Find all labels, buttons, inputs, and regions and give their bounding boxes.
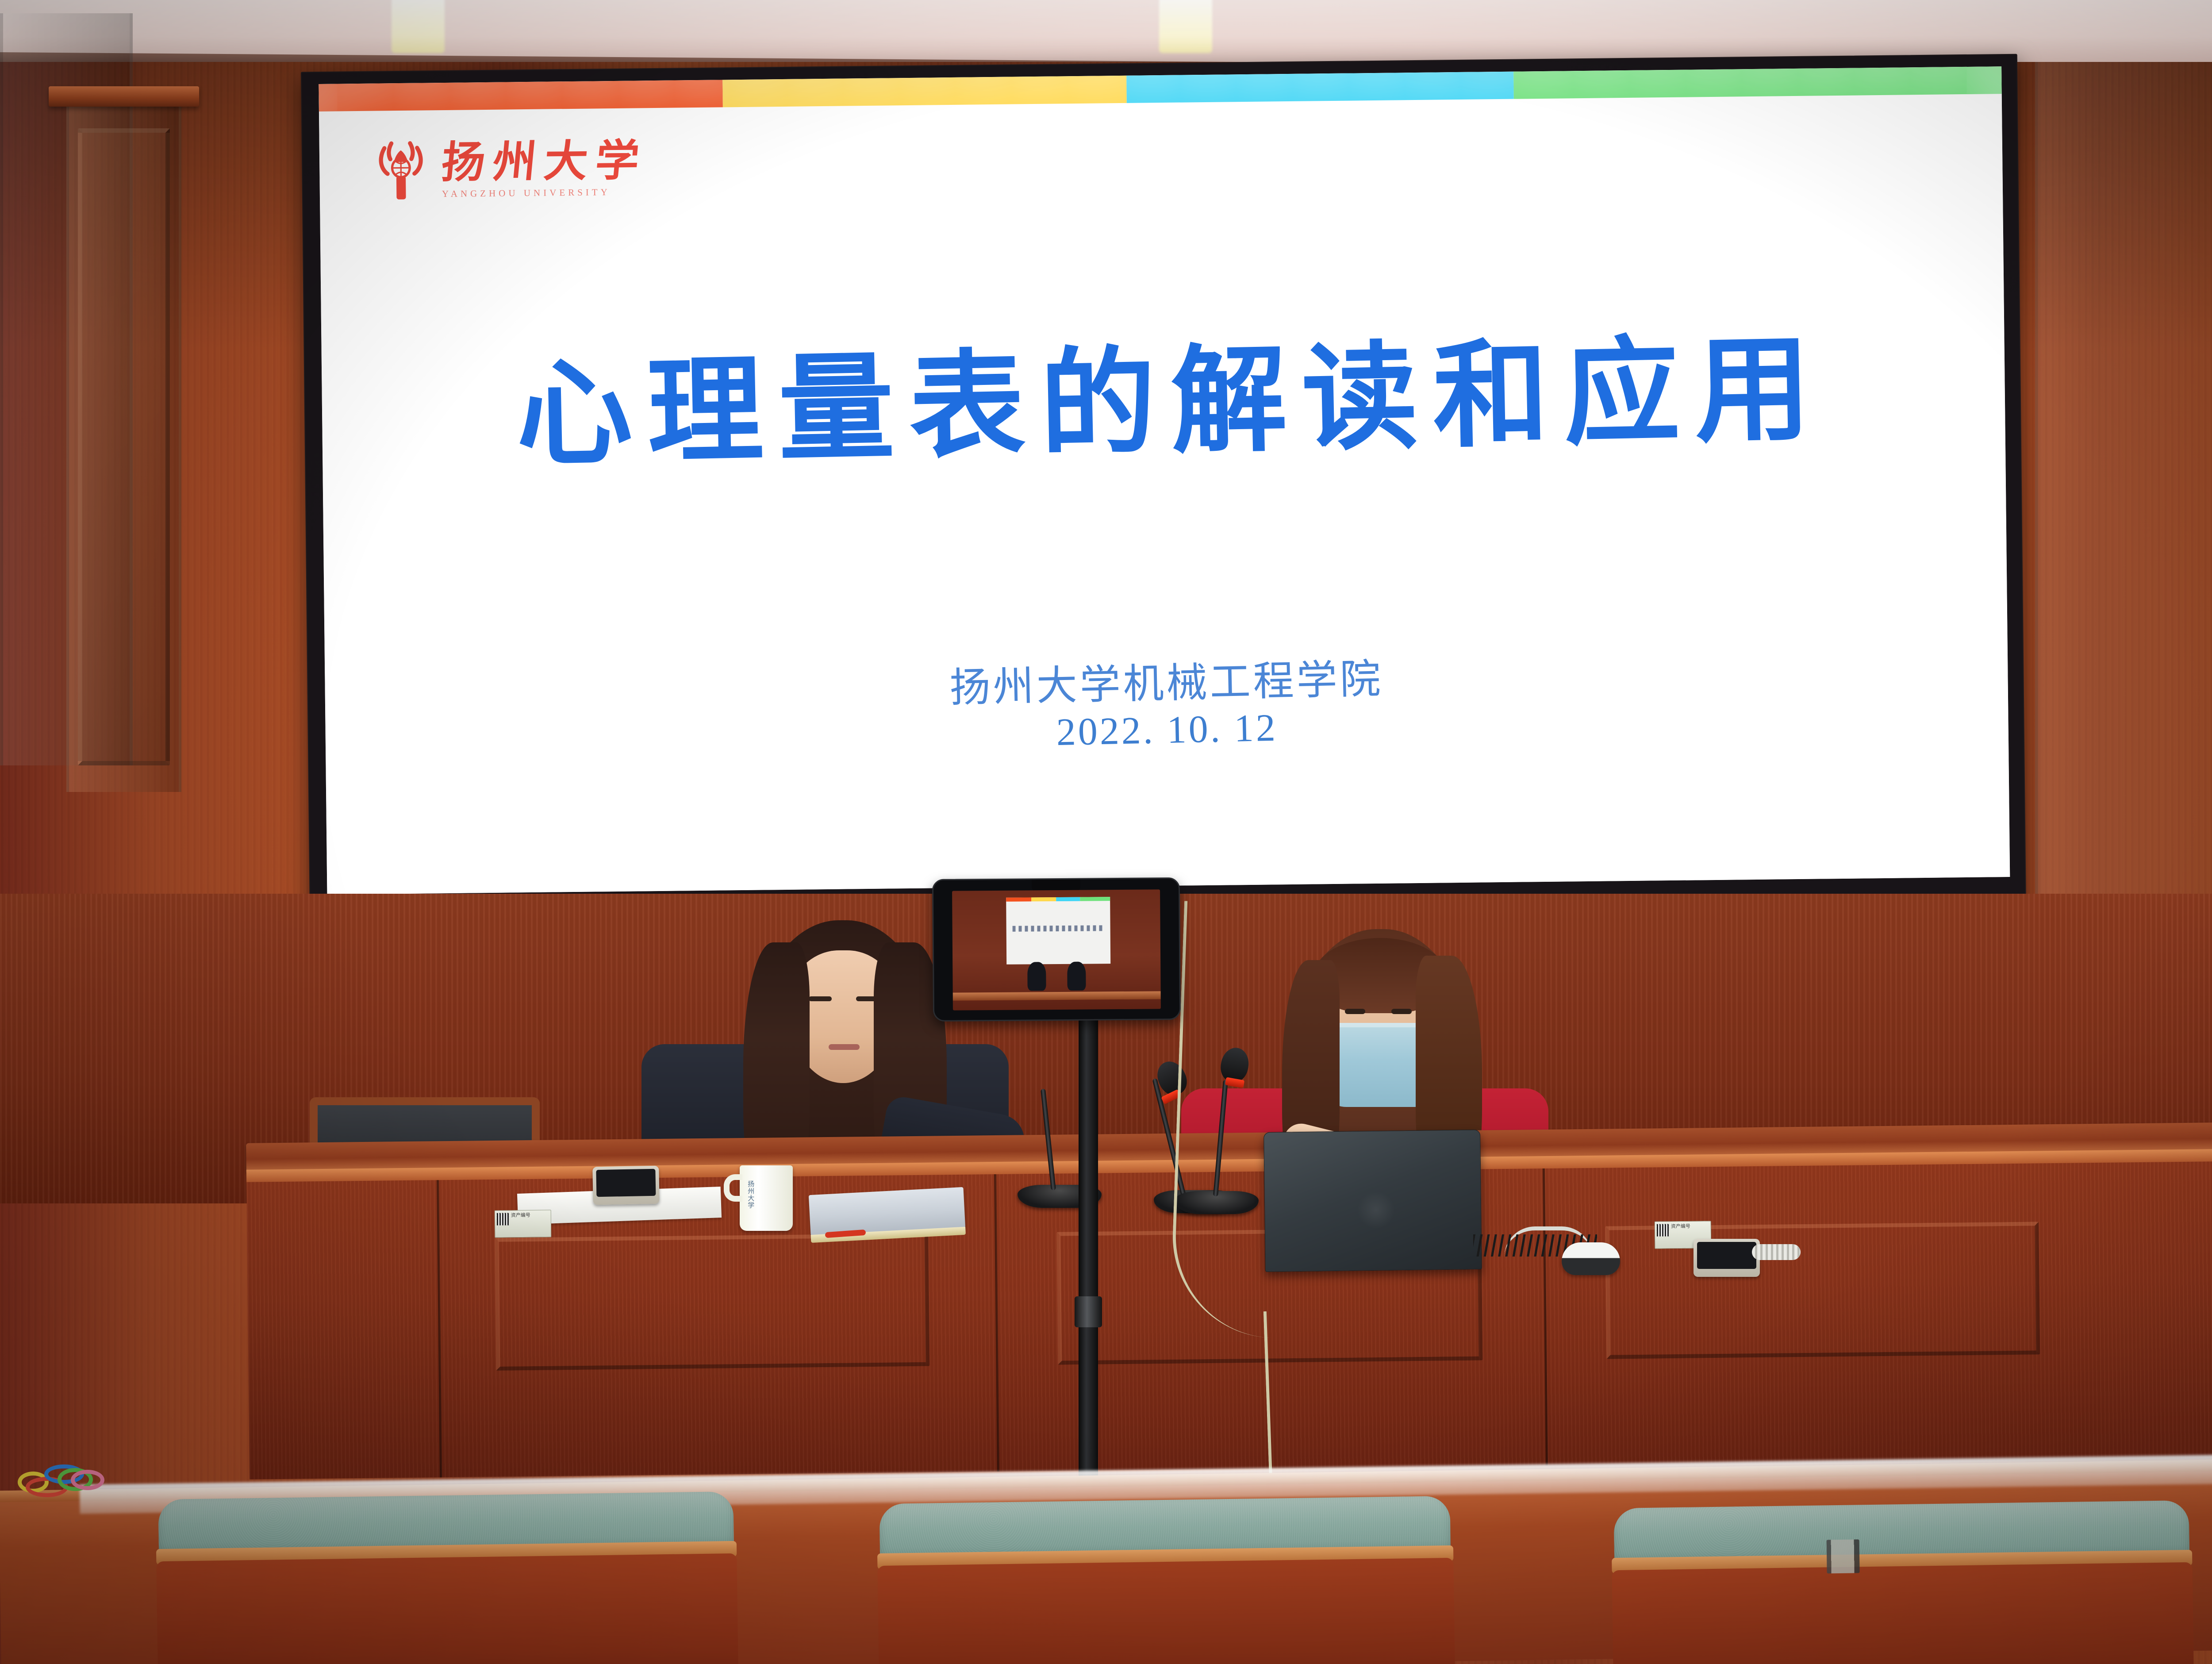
paper-stack[interactable]: [809, 1187, 965, 1236]
phone-live-preview[interactable]: [952, 889, 1161, 1010]
preview-band-green: [1080, 897, 1110, 901]
power-cable: [1169, 901, 1286, 1337]
ceiling-light: [392, 0, 445, 53]
audience-seat-1[interactable]: [158, 1491, 735, 1664]
projection-screen-surface: 扬州大学 YANGZHOU UNIVERSITY 心理量表的解读和应用 扬州大学…: [319, 66, 2010, 895]
smartphone-on-desk-left[interactable]: [592, 1166, 659, 1205]
left-speaker-mouth: [829, 1044, 860, 1050]
projection-screen: 扬州大学 YANGZHOU UNIVERSITY 心理量表的解读和应用 扬州大学…: [301, 54, 2026, 926]
preview-person-left: [1027, 962, 1046, 991]
slide-color-bar: [319, 66, 2001, 111]
preview-slide-colorbar: [1006, 897, 1110, 902]
slide-title: 心理量表的解读和应用: [321, 328, 2006, 478]
preview-dais: [953, 991, 1161, 1001]
charging-cable-coil: [1752, 1244, 1801, 1260]
mug-label-text: 扬州大学: [747, 1180, 754, 1209]
right-speaker-eye-right: [1391, 1009, 1412, 1014]
presentation-slide: 扬州大学 YANGZHOU UNIVERSITY 心理量表的解读和应用 扬州大学…: [319, 66, 2010, 895]
color-band-yellow: [722, 76, 1127, 108]
dais-asset-plate-left: 资产编号: [495, 1210, 552, 1237]
right-speaker-eye-left: [1345, 1009, 1365, 1014]
audience-seat-2[interactable]: [879, 1496, 1452, 1664]
tripod-collar-upper[interactable]: [1075, 1296, 1102, 1327]
laptop[interactable]: [1263, 1130, 1482, 1272]
university-name-en: YANGZHOU UNIVERSITY: [442, 186, 647, 200]
preview-band-cyan: [1056, 897, 1080, 901]
color-band-green: [1513, 66, 2002, 99]
qr-code-icon: [497, 1213, 509, 1225]
wall-panel-right-outer: [2035, 62, 2212, 903]
mug-handle: [724, 1174, 742, 1202]
preview-slide-title-line: [1013, 925, 1104, 932]
preview-band-orange: [1006, 898, 1031, 902]
left-speaker-eye-left: [809, 996, 832, 1001]
conference-room-photo: 扬州大学 YANGZHOU UNIVERSITY 心理量表的解读和应用 扬州大学…: [0, 0, 2212, 1664]
ceramic-mug[interactable]: 扬州大学: [740, 1165, 793, 1231]
qr-code-icon: [1657, 1224, 1669, 1236]
wall-panel-inset-left: [78, 128, 170, 765]
seat-back: [1612, 1562, 2194, 1664]
preview-band-yellow: [1031, 897, 1056, 901]
color-band-cyan: [1126, 72, 1514, 103]
seat-back: [877, 1558, 1455, 1664]
dais-panel-inset: [495, 1234, 929, 1371]
smartphone-on-desk-right[interactable]: [1694, 1239, 1760, 1277]
color-band-orange-red: [319, 80, 723, 111]
recording-smartphone[interactable]: [932, 877, 1181, 1022]
seat-hinge: [1827, 1539, 1860, 1573]
preview-slide: [1006, 897, 1110, 965]
university-name-cn: 扬州大学: [440, 139, 649, 185]
lanyard-loop-pink: [71, 1470, 104, 1490]
phone-mount-clamp: [1032, 877, 1080, 891]
audience-seat-3[interactable]: [1614, 1500, 2191, 1664]
preview-person-right: [1067, 962, 1086, 991]
seat-back: [156, 1553, 739, 1664]
torch-emblem-icon: [372, 139, 430, 202]
pilaster-cap-left: [49, 86, 199, 107]
ceiling-light: [1159, 0, 1212, 53]
university-logo: 扬州大学 YANGZHOU UNIVERSITY: [372, 137, 647, 202]
keychain-lanyards[interactable]: [0, 1460, 93, 1503]
computer-mouse[interactable]: [1562, 1242, 1620, 1275]
